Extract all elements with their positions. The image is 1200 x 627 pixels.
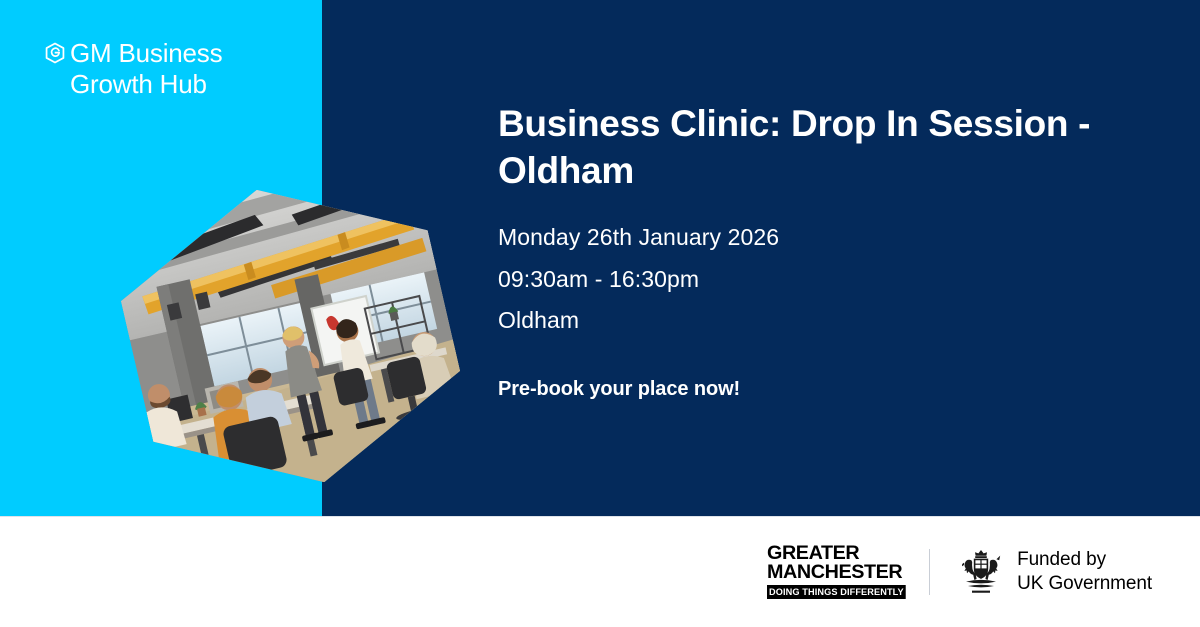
event-location: Oldham	[498, 300, 1148, 342]
banner-artwork: GM Business Growth Hub	[0, 0, 1200, 516]
event-time: 09:30am - 16:30pm	[498, 259, 1148, 301]
gm-logo-tagline: DOING THINGS DIFFERENTLY	[767, 585, 906, 599]
gm-hexagon-g-icon	[44, 42, 66, 64]
greater-manchester-logo: GREATER MANCHESTER DOING THINGS DIFFEREN…	[767, 545, 903, 599]
footer-divider	[929, 549, 930, 595]
event-date: Monday 26th January 2026	[498, 217, 1148, 259]
cta-text: Pre-book your place now!	[498, 378, 1148, 401]
gm-logo-line2: MANCHESTER	[767, 564, 902, 583]
uk-government-label: Funded by UK Government	[1017, 548, 1152, 597]
brand-name: GM Business Growth Hub	[70, 38, 222, 99]
event-copy: Business Clinic: Drop In Session - Oldha…	[498, 100, 1148, 401]
brand-lockup: GM Business Growth Hub	[44, 38, 222, 99]
event-promo-banner: GM Business Growth Hub	[0, 0, 1200, 627]
royal-coat-of-arms-icon	[956, 547, 1006, 597]
footer-bar: GREATER MANCHESTER DOING THINGS DIFFEREN…	[0, 516, 1200, 627]
footer-logo-group: GREATER MANCHESTER DOING THINGS DIFFEREN…	[767, 517, 1152, 627]
page-title: Business Clinic: Drop In Session - Oldha…	[498, 100, 1148, 195]
uk-government-logo: Funded by UK Government	[956, 547, 1152, 597]
